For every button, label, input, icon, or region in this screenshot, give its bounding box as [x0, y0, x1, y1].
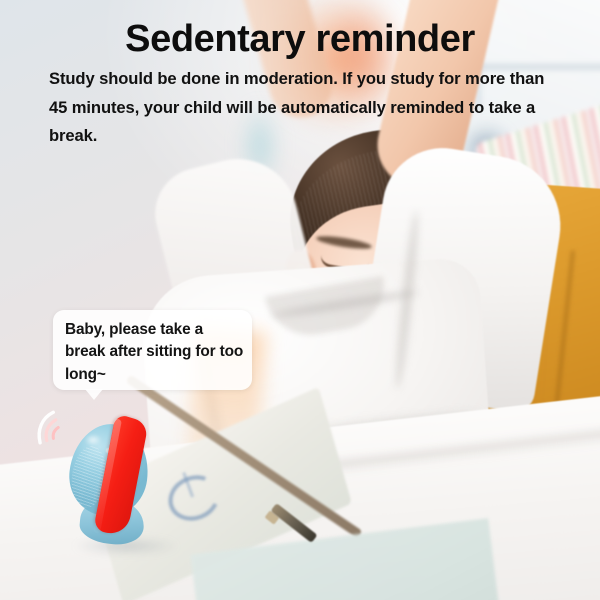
- sedentary-reminder-device: [60, 418, 180, 554]
- description-text: Study should be done in moderation. If y…: [49, 65, 555, 151]
- speech-bubble-tail: [85, 389, 103, 400]
- device-highlight: [82, 432, 104, 448]
- speech-bubble-text: Baby, please take a break after sitting …: [65, 319, 247, 386]
- sedentary-reminder-poster: Sedentary reminder Study should be done …: [0, 0, 600, 600]
- speech-bubble: Baby, please take a break after sitting …: [53, 310, 252, 390]
- page-title: Sedentary reminder: [0, 19, 600, 60]
